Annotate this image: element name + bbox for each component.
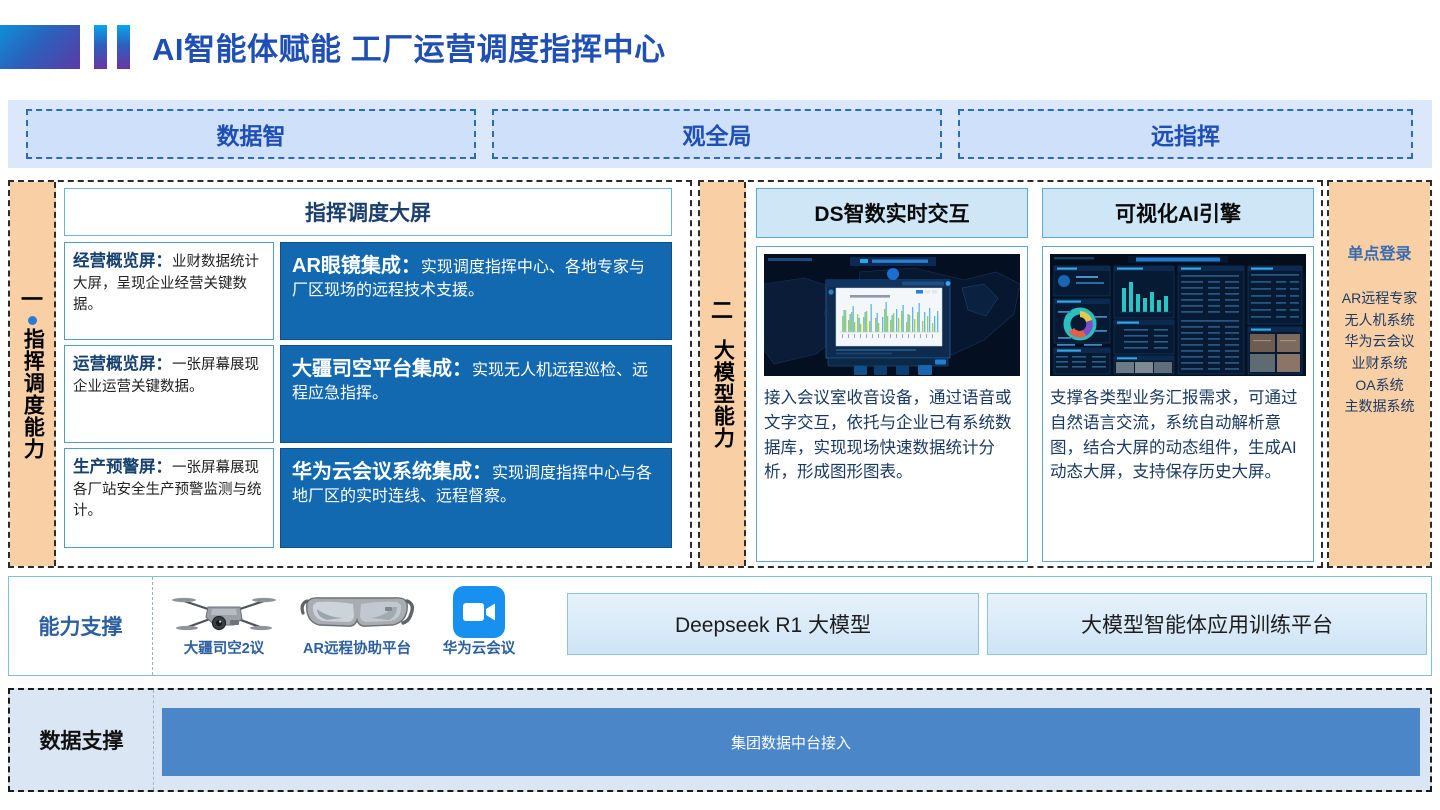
capability-item-drone-label: 大疆司空2议: [165, 641, 283, 658]
capability-support-row: 能力支撑: [8, 576, 1432, 676]
main-row: 一 指挥调度能力 指挥调度大屏 经营概览屏：业财数据统计大屏，呈现企业经营关键数…: [8, 180, 1432, 568]
blue-card-1[interactable]: 大疆司空平台集成：实现无人机远程巡检、远程应急指挥。: [280, 345, 672, 443]
card-ds-realtime[interactable]: DS智数实时交互: [756, 188, 1028, 562]
support-pill-training-platform[interactable]: 大模型智能体应用训练平台: [987, 593, 1427, 655]
white-card-2-title: 生产预警屏：: [73, 458, 172, 476]
sso-item-0[interactable]: AR远程专家: [1337, 288, 1423, 310]
card-ds-desc: 接入会议室收音设备，通过语音或文字交互，依托与企业已有系统数据库，实现现场快速数…: [764, 386, 1020, 485]
group1-side-label: 一 指挥调度能力: [10, 182, 56, 566]
theme-cell-1[interactable]: 观全局: [492, 109, 942, 159]
capability-item-huawei-meeting[interactable]: 华为云会议: [431, 583, 527, 658]
theme-cell-0[interactable]: 数据智: [26, 109, 476, 159]
theme-cell-0-label: 数据智: [217, 117, 286, 151]
card-ai-title: 可视化AI引擎: [1042, 188, 1314, 238]
group2-body: DS智数实时交互: [746, 182, 1321, 566]
group1-body: 指挥调度大屏 经营概览屏：业财数据统计大屏，呈现企业经营关键数据。 运营概览屏：…: [56, 182, 690, 566]
card-ds-title-label: DS智数实时交互: [814, 198, 969, 228]
sso-item-5[interactable]: 主数据系统: [1337, 396, 1423, 418]
blue-card-2[interactable]: 华为云会议系统集成：实现调度指挥中心与各地厂区的实时连线、远程督察。: [280, 448, 672, 548]
capability-item-ar-glasses-label: AR远程协助平台: [287, 641, 427, 658]
capability-icon-group: 大疆司空2议 AR远程协助平台: [159, 583, 549, 671]
group1-bullet-icon: [28, 316, 37, 325]
theme-cell-1-label: 观全局: [683, 117, 752, 151]
group2-side-label: 二 大模型能力: [700, 182, 746, 566]
data-platform-bar[interactable]: 集团数据中台接入: [162, 708, 1420, 776]
page-title: AI智能体赋能 工厂运营调度指挥中心: [152, 24, 666, 69]
group2-index: 二: [711, 299, 733, 322]
theme-cell-2-label: 远指挥: [1151, 117, 1220, 151]
theme-strip: 数据智 观全局 远指挥: [8, 100, 1432, 168]
card-ds-body: 接入会议室收音设备，通过语音或文字交互，依托与企业已有系统数据库，实现现场快速数…: [756, 246, 1028, 562]
card-ds-title: DS智数实时交互: [756, 188, 1028, 238]
capability-item-huawei-meeting-label: 华为云会议: [431, 641, 527, 658]
group-command-dispatch: 一 指挥调度能力 指挥调度大屏 经营概览屏：业财数据统计大屏，呈现企业经营关键数…: [8, 180, 692, 568]
theme-cell-2[interactable]: 远指挥: [958, 109, 1413, 159]
white-card-1-title: 运营概览屏：: [73, 355, 172, 373]
slide-root: AI智能体赋能 工厂运营调度指挥中心 数据智 观全局 远指挥 一 指挥调度能力 …: [0, 0, 1440, 810]
brand-logo-bar2-icon: [117, 25, 130, 69]
group1-side-text: 指挥调度能力: [20, 328, 45, 460]
support-pill-training-platform-label: 大模型智能体应用训练平台: [1081, 609, 1333, 639]
data-support-row: 数据支撑 集团数据中台接入: [8, 688, 1432, 792]
card-ai-title-label: 可视化AI引擎: [1115, 198, 1241, 228]
card-visual-ai[interactable]: 可视化AI引擎: [1042, 188, 1314, 562]
sso-item-1[interactable]: 无人机系统: [1337, 310, 1423, 332]
group1-index: 一: [21, 288, 43, 311]
blue-card-0[interactable]: AR眼镜集成：实现调度指挥中心、各地专家与厂区现场的远程技术支援。: [280, 242, 672, 340]
white-card-0[interactable]: 经营概览屏：业财数据统计大屏，呈现企业经营关键数据。: [64, 242, 274, 340]
brand-logo-block-icon: [0, 25, 80, 69]
capability-item-ar-glasses[interactable]: AR远程协助平台: [287, 583, 427, 658]
white-card-1[interactable]: 运营概览屏：一张屏幕展现企业运营关键数据。: [64, 345, 274, 443]
white-card-2[interactable]: 生产预警屏：一张屏幕展现各厂站安全生产预警监测与统计。: [64, 448, 274, 548]
drone-icon: [165, 583, 283, 639]
command-screen-header-label: 指挥调度大屏: [305, 197, 431, 227]
sso-item-2[interactable]: 华为云会议: [1337, 331, 1423, 353]
card-ai-desc: 支撑各类型业务汇报需求，可通过自然语言交流，系统自动解析意图，结合大屏的动态组件…: [1050, 386, 1306, 485]
group2-side-text: 大模型能力: [710, 339, 735, 449]
blue-card-0-title: AR眼镜集成：: [292, 255, 421, 277]
data-support-label: 数据支撑: [10, 690, 154, 790]
capability-support-label: 能力支撑: [9, 577, 153, 675]
ar-glasses-icon: [287, 583, 427, 639]
white-card-0-title: 经营概览屏：: [73, 252, 172, 270]
huawei-cloud-meeting-icon: [431, 583, 527, 639]
support-pill-deepseek[interactable]: Deepseek R1 大模型: [567, 593, 979, 655]
data-platform-bar-label: 集团数据中台接入: [731, 732, 851, 753]
brand-logo-bar1-icon: [94, 25, 107, 69]
header: AI智能体赋能 工厂运营调度指挥中心: [0, 0, 1440, 92]
sso-item-4[interactable]: OA系统: [1337, 375, 1423, 397]
command-screen-header: 指挥调度大屏: [64, 188, 672, 236]
blue-card-1-title: 大疆司空平台集成：: [292, 358, 472, 380]
group-sso: 单点登录 AR远程专家 无人机系统 华为云会议 业财系统 OA系统 主数据系统: [1327, 180, 1432, 568]
group-large-model: 二 大模型能力 DS智数实时交互: [698, 180, 1323, 568]
sso-title: 单点登录: [1347, 240, 1411, 264]
support-pill-deepseek-label: Deepseek R1 大模型: [675, 609, 871, 639]
ds-realtime-dashboard-screenshot: [764, 254, 1020, 376]
capability-item-drone[interactable]: 大疆司空2议: [165, 583, 283, 658]
sso-item-3[interactable]: 业财系统: [1337, 353, 1423, 375]
blue-card-2-title: 华为云会议系统集成：: [292, 461, 492, 483]
sso-panel: 单点登录 AR远程专家 无人机系统 华为云会议 业财系统 OA系统 主数据系统: [1329, 182, 1430, 566]
card-ai-body: 支撑各类型业务汇报需求，可通过自然语言交流，系统自动解析意图，结合大屏的动态组件…: [1042, 246, 1314, 562]
visual-ai-engine-dashboard-screenshot: [1050, 254, 1306, 376]
